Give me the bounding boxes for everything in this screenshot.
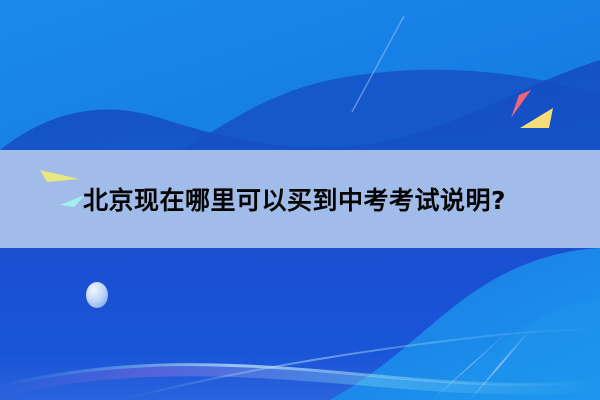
triangle-cyan-band-icon xyxy=(60,195,85,207)
triangle-yellow-icon xyxy=(520,108,553,128)
promo-banner: 北京现在哪里可以买到中考考试说明? xyxy=(0,0,600,400)
headline-text: 北京现在哪里可以买到中考考试说明? xyxy=(83,186,506,216)
triangle-pink-icon xyxy=(511,90,531,118)
triangle-yellow-band-icon xyxy=(40,170,79,182)
